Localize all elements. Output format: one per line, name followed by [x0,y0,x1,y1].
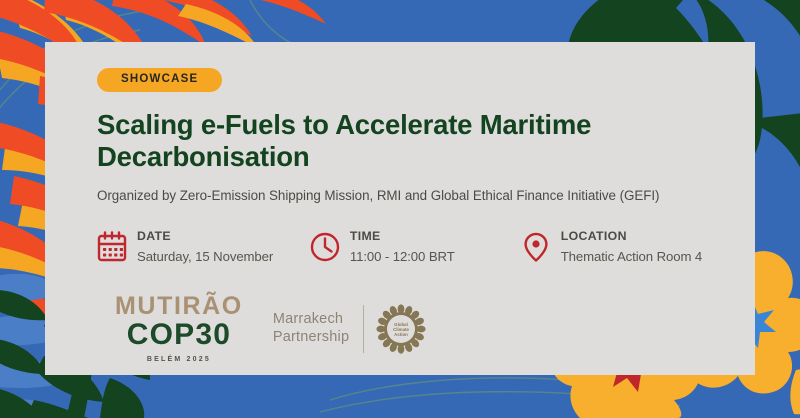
gca-line-3: Action [394,332,408,337]
cop30-belem-text: BELÉM 2025 [115,356,243,363]
event-detail-time: TIME 11:00 - 12:00 BRT [310,226,521,267]
date-text-block: DATE Saturday, 15 November [137,226,273,267]
time-label: TIME [350,229,381,243]
cop30-logo: MUTIRÃO COP30 BELÉM 2025 [115,294,243,363]
organizer-text: Organized by Zero-Emission Shipping Miss… [97,187,755,204]
map-pin-icon [521,231,551,263]
calendar-icon [97,231,127,263]
marrakech-partnership-logo: Marrakech Partnership [273,304,426,354]
clock-icon [310,231,340,263]
time-text-block: TIME 11:00 - 12:00 BRT [350,226,455,267]
location-text-block: LOCATION Thematic Action Room 4 [561,226,702,267]
event-card: SHOWCASE Scaling e-Fuels to Accelerate M… [45,42,755,375]
event-poster: SHOWCASE Scaling e-Fuels to Accelerate M… [0,0,800,418]
status-badge: SHOWCASE [97,68,222,92]
marrakech-line-1: Marrakech [273,311,343,327]
event-detail-date: DATE Saturday, 15 November [97,226,310,267]
date-label: DATE [137,229,171,243]
title-line-1: Scaling e-Fuels to Accelerate Maritime [97,109,591,140]
date-value: Saturday, 15 November [137,249,273,264]
location-value: Thematic Action Room 4 [561,249,702,264]
logo-divider [363,305,364,353]
global-climate-action-icon: Global Climate Action [376,304,426,354]
cop30-text: COP30 [115,320,243,350]
time-value: 11:00 - 12:00 BRT [350,249,455,264]
page-title: Scaling e-Fuels to Accelerate Maritime D… [97,109,697,173]
logo-row: MUTIRÃO COP30 BELÉM 2025 Marrakech Partn… [115,294,426,363]
marrakech-partnership-text: Marrakech Partnership [273,311,363,346]
cop30-mutirao-text: MUTIRÃO [115,294,243,319]
marrakech-line-2: Partnership [273,329,349,345]
event-details-row: DATE Saturday, 15 November TIME 11:00 - … [97,226,755,267]
location-label: LOCATION [561,229,627,243]
title-line-2: Decarbonisation [97,141,309,172]
event-detail-location: LOCATION Thematic Action Room 4 [521,226,755,267]
